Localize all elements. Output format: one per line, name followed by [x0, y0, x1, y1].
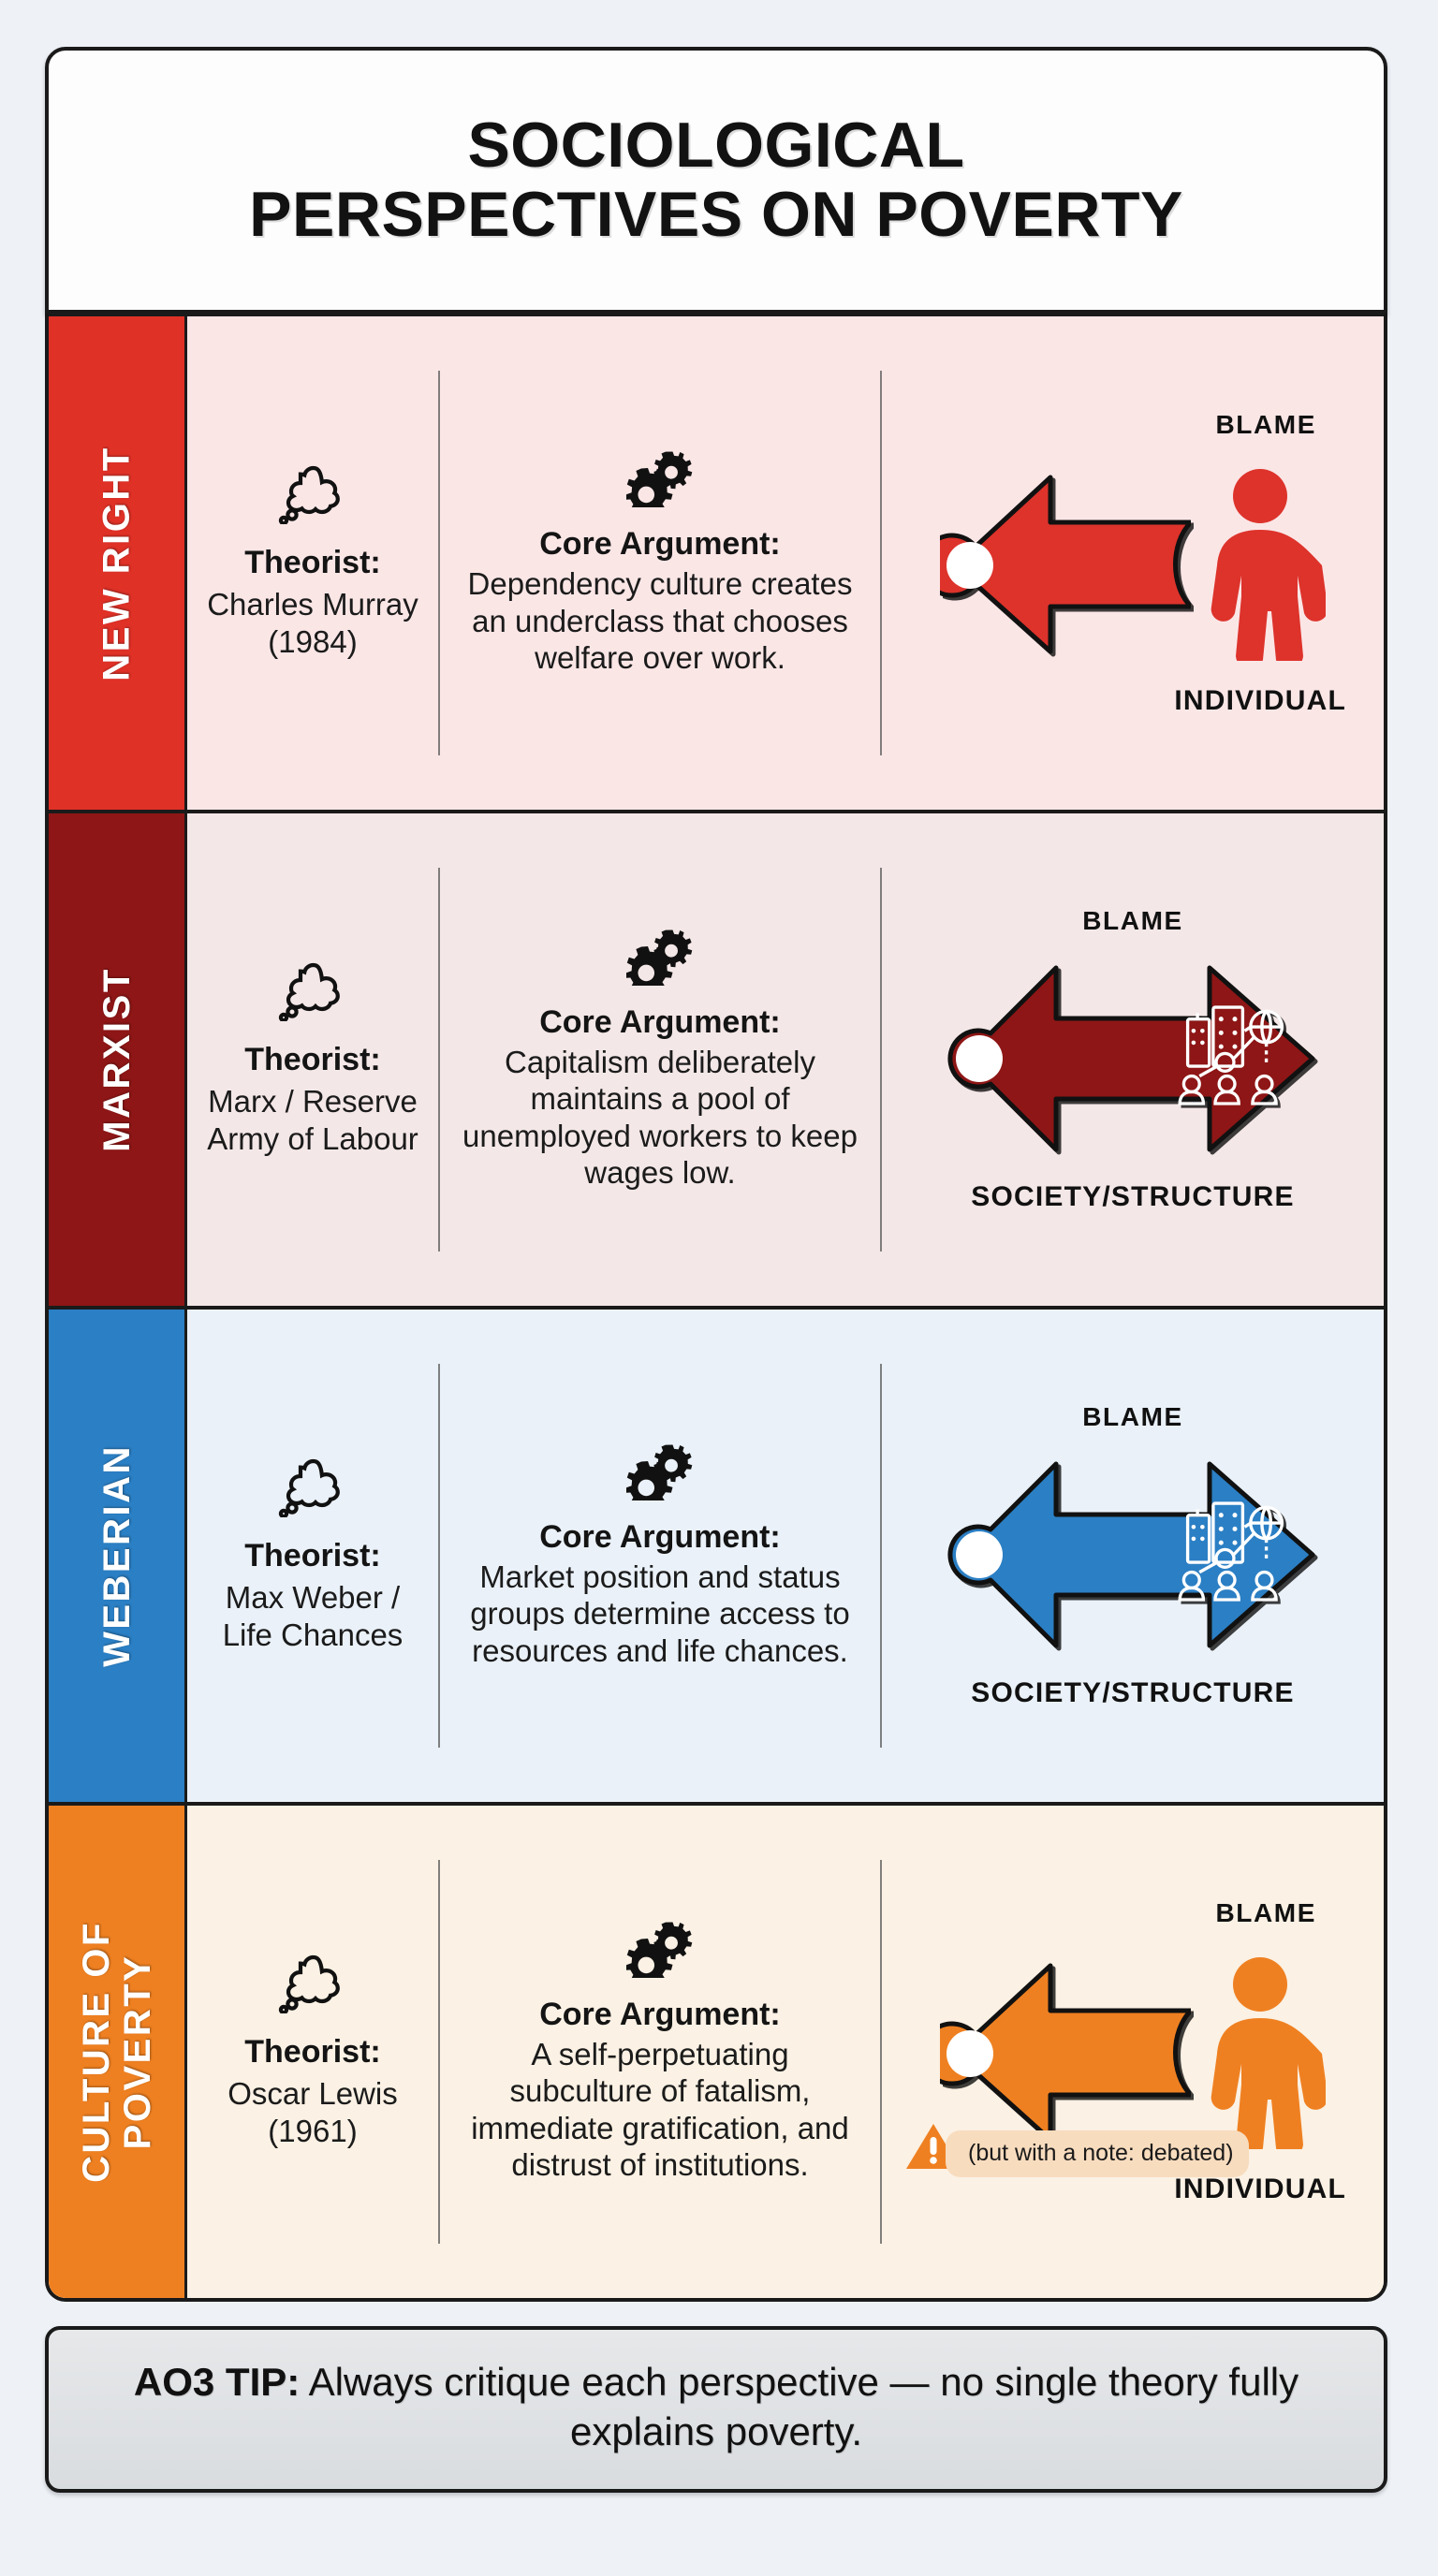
- theorist-cell: Theorist: Charles Murray (1984): [187, 316, 438, 810]
- core-argument-heading: Core Argument:: [539, 525, 781, 563]
- blame-cell: BLAME: [882, 316, 1384, 810]
- blame-heading: BLAME: [1215, 1898, 1316, 1928]
- theorist-heading: Theorist:: [244, 1041, 380, 1079]
- core-argument-text: Market position and status groups determ…: [455, 1559, 865, 1670]
- core-argument-cell: Core Argument: A self-perpetuating subcu…: [440, 1806, 880, 2298]
- theorist-cell: Theorist: Max Weber / Life Chances: [187, 1310, 438, 1802]
- core-argument-text: Dependency culture creates an underclass…: [455, 565, 865, 677]
- ao3-tip-prefix: AO3 TIP:: [134, 2360, 300, 2404]
- thought-bubble-icon: [276, 1954, 349, 2018]
- debated-note: (but with a note: debated): [904, 2120, 1249, 2177]
- gears-icon: [626, 1920, 694, 1983]
- row-label-line-1: CULTURE OF: [76, 1921, 117, 2183]
- gears-icon: [626, 449, 694, 512]
- core-argument-cell: Core Argument: Capitalism deliberately m…: [440, 813, 880, 1306]
- theorist-name: Oscar Lewis (1961): [202, 2075, 423, 2151]
- ao3-tip-text: AO3 TIP: Always critique each perspectiv…: [86, 2358, 1346, 2457]
- table-row: MARXIST Theorist: Marx / Reserve Army of…: [49, 810, 1384, 1306]
- core-argument-heading: Core Argument:: [539, 1996, 781, 2034]
- gears-icon: [626, 928, 694, 990]
- blame-heading: BLAME: [1215, 410, 1316, 440]
- blame-heading: BLAME: [1082, 1402, 1183, 1432]
- core-argument-heading: Core Argument:: [539, 1518, 781, 1557]
- theorist-heading: Theorist:: [244, 2033, 380, 2071]
- blame-target: INDIVIDUAL: [1174, 685, 1346, 717]
- core-argument-text: A self-perpetuating subculture of fatali…: [455, 2036, 865, 2184]
- sidebar-item-culture-of-poverty[interactable]: CULTURE OF POVERTY: [49, 1806, 187, 2298]
- thought-bubble-icon: [276, 464, 349, 529]
- row-label: NEW RIGHT: [96, 446, 138, 681]
- sidebar-item-weberian[interactable]: WEBERIAN: [49, 1310, 187, 1802]
- core-argument-cell: Core Argument: Dependency culture create…: [440, 316, 880, 810]
- table-row: WEBERIAN Theorist: Max Weber / Life Chan…: [49, 1306, 1384, 1802]
- theorist-name: Charles Murray (1984): [202, 586, 423, 662]
- blame-arrow-left-icon: [940, 464, 1191, 661]
- blame-cell: BLAME: [882, 1806, 1384, 2298]
- title-line-1: SOCIOLOGICAL: [249, 111, 1183, 180]
- row-label: MARXIST: [96, 967, 138, 1152]
- theorist-name: Max Weber / Life Chances: [202, 1579, 423, 1655]
- person-icon: [1195, 464, 1326, 661]
- perspectives-table: NEW RIGHT Theorist: Charles Murray (1984…: [45, 314, 1387, 2302]
- row-label: CULTURE OF POVERTY: [76, 1921, 158, 2183]
- blame-cell: BLAME: [882, 1310, 1384, 1802]
- debated-note-text: (but with a note: debated): [946, 2130, 1249, 2177]
- blame-target: SOCIETY/STRUCTURE: [971, 1677, 1294, 1709]
- page-title: SOCIOLOGICAL PERSPECTIVES ON POVERTY: [227, 111, 1206, 249]
- table-row: CULTURE OF POVERTY Theorist: Oscar Lewis…: [49, 1802, 1384, 2298]
- theorist-name: Marx / Reserve Army of Labour: [202, 1083, 423, 1159]
- core-argument-heading: Core Argument:: [539, 1003, 781, 1042]
- theorist-cell: Theorist: Marx / Reserve Army of Labour: [187, 813, 438, 1306]
- title-line-2: PERSPECTIVES ON POVERTY: [249, 181, 1183, 249]
- thought-bubble-icon: [276, 1457, 349, 1522]
- gears-icon: [626, 1442, 694, 1505]
- sidebar-item-marxist[interactable]: MARXIST: [49, 813, 187, 1306]
- blame-target: SOCIETY/STRUCTURE: [971, 1181, 1294, 1213]
- thought-bubble-icon: [276, 961, 349, 1026]
- ao3-tip-banner: AO3 TIP: Always critique each perspectiv…: [45, 2326, 1387, 2493]
- theorist-heading: Theorist:: [244, 1537, 380, 1575]
- ao3-tip-body: Always critique each perspective — no si…: [300, 2360, 1299, 2453]
- core-argument-cell: Core Argument: Market position and statu…: [440, 1310, 880, 1802]
- infographic-poster: SOCIOLOGICAL PERSPECTIVES ON POVERTY NEW…: [45, 47, 1387, 2539]
- blame-heading: BLAME: [1082, 906, 1183, 936]
- theorist-heading: Theorist:: [244, 544, 380, 582]
- blame-arrow-double-icon: [946, 1447, 1320, 1662]
- row-label-line-2: POVERTY: [117, 1921, 158, 2183]
- table-row: NEW RIGHT Theorist: Charles Murray (1984…: [49, 314, 1384, 810]
- row-label: WEBERIAN: [96, 1444, 138, 1667]
- sidebar-item-new-right[interactable]: NEW RIGHT: [49, 316, 187, 810]
- poster-title-card: SOCIOLOGICAL PERSPECTIVES ON POVERTY: [45, 47, 1387, 314]
- core-argument-text: Capitalism deliberately maintains a pool…: [455, 1044, 865, 1192]
- theorist-cell: Theorist: Oscar Lewis (1961): [187, 1806, 438, 2298]
- blame-target: INDIVIDUAL: [1174, 2173, 1346, 2205]
- blame-cell: BLAME: [882, 813, 1384, 1306]
- blame-arrow-double-icon: [946, 951, 1320, 1166]
